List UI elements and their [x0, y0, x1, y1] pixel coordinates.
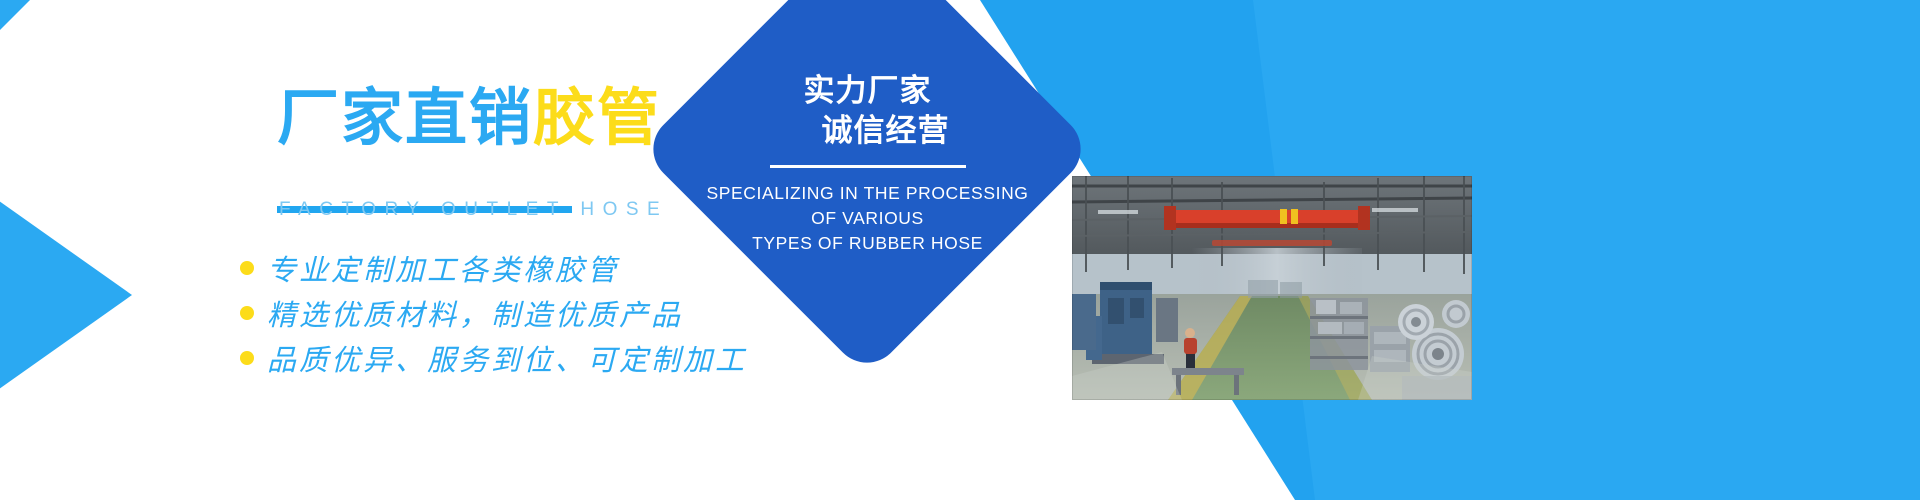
- factory-interior-photo: [1072, 176, 1472, 400]
- factory-photo-graphic: [1072, 176, 1472, 400]
- headline-subtitle-english: FACTORY OUTLET HOSE: [279, 199, 668, 221]
- badge-chinese-line-1: 实力厂家: [804, 73, 932, 108]
- badge-divider-rule: [770, 165, 966, 168]
- badge-chinese-heading: 实力厂家 诚信经营: [786, 71, 950, 150]
- bullet-dot-icon: [240, 306, 254, 320]
- bullet-dot-icon: [240, 351, 254, 365]
- page-title: 厂家直销胶管: [277, 88, 661, 150]
- badge-chinese-line-2: 诚信经营: [822, 111, 950, 151]
- list-item-label: 精选优质材料，制造优质产品: [267, 292, 683, 334]
- diamond-badge-content: 实力厂家 诚信经营 SPECIALIZING IN THE PROCESSING…: [640, 0, 1095, 377]
- diamond-badge: 实力厂家 诚信经营 SPECIALIZING IN THE PROCESSING…: [640, 0, 1095, 377]
- headline-primary-text: 厂家直销: [277, 84, 533, 153]
- chevron-corner-decoration-top-left: [0, 0, 30, 30]
- badge-english-text: SPECIALIZING IN THE PROCESSING OF VARIOU…: [706, 181, 1028, 256]
- promo-banner: 厂家直销胶管 FACTORY OUTLET HOSE 专业定制加工各类橡胶管 精…: [0, 0, 1920, 500]
- badge-english-line-1: SPECIALIZING IN THE PROCESSING: [706, 181, 1028, 206]
- bullet-dot-icon: [240, 261, 254, 275]
- badge-english-line-2: OF VARIOUS: [706, 206, 1028, 231]
- chevron-arrow-decoration-left: [0, 196, 132, 394]
- list-item-label: 专业定制加工各类橡胶管: [267, 247, 619, 289]
- badge-english-line-3: TYPES OF RUBBER HOSE: [706, 231, 1028, 256]
